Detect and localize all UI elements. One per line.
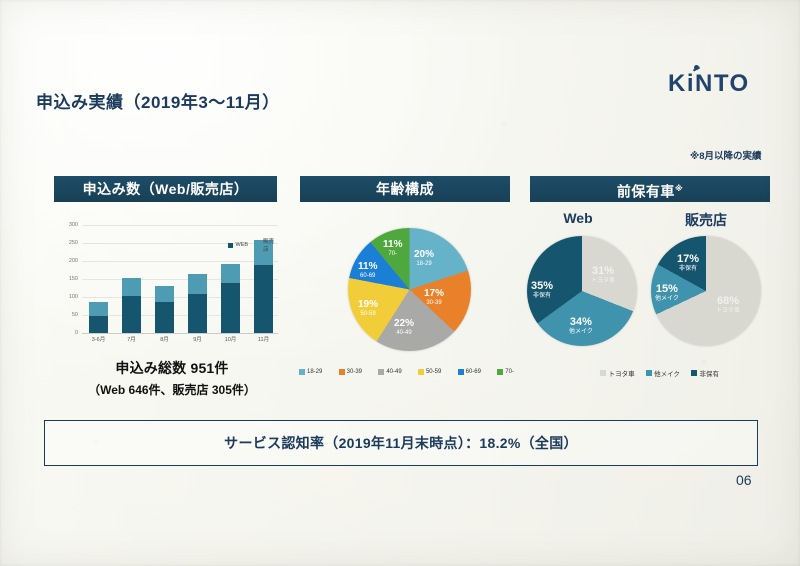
legend-item-30-39: 30-39 bbox=[339, 369, 362, 375]
bar-chart: 0 50 100 150 200 250 300 bbox=[52, 215, 284, 355]
legend-label: 30-39 bbox=[347, 369, 362, 375]
age-slice-pct: 17% bbox=[424, 288, 444, 299]
age-slice-pct: 19% bbox=[358, 299, 378, 310]
bar-column bbox=[155, 286, 174, 333]
legend-item-60-69: 60-69 bbox=[458, 369, 481, 375]
bar-segment-web bbox=[89, 316, 108, 333]
age-slice-range: 30-39 bbox=[424, 300, 444, 306]
age-slice-label-50-59: 19% 50-59 bbox=[358, 300, 378, 317]
age-pie-legend: 18-29 30-39 40-49 50-59 60-69 70- bbox=[299, 369, 514, 375]
legend-label: 他メイク bbox=[654, 368, 680, 378]
age-slice-pct: 22% bbox=[394, 318, 414, 329]
page-title: 申込み実績（2019年3〜11月） bbox=[36, 88, 280, 113]
age-slice-range: 50-59 bbox=[358, 311, 378, 317]
slide: KiNTO 申込み実績（2019年3〜11月） ※8月以降の実績 申込み数（We… bbox=[0, 0, 800, 566]
legend-item-70: 70- bbox=[497, 369, 514, 375]
legend-label: 販売店 bbox=[263, 237, 278, 253]
logo-dot-icon bbox=[694, 65, 699, 70]
web-slice-pct: 34% bbox=[570, 316, 592, 328]
legend-swatch-icon bbox=[646, 370, 652, 376]
age-slice-range: 70- bbox=[383, 251, 402, 257]
legend-label: 50-59 bbox=[426, 369, 441, 375]
age-slice-label-40-49: 22% 40-49 bbox=[394, 319, 414, 336]
legend-swatch-icon bbox=[299, 369, 305, 375]
awareness-banner-text: サービス認知率（2019年11月末時点）：18.2%（全国） bbox=[224, 433, 578, 453]
shop-slice-pct: 17% bbox=[677, 253, 699, 265]
panel-header-ownership-label: 前保有車 bbox=[617, 184, 675, 200]
subtitle-web: Web bbox=[528, 210, 628, 226]
legend-label: 60-69 bbox=[466, 369, 481, 375]
x-tick-label: 7月 bbox=[127, 335, 136, 343]
bar-column bbox=[221, 264, 240, 333]
legend-item-50-59: 50-59 bbox=[418, 369, 441, 375]
x-tick-label: 3-6月 bbox=[92, 335, 105, 343]
panel-header-ownership-sup: ※ bbox=[675, 184, 683, 193]
legend-item-shop: 販売店 bbox=[256, 237, 278, 253]
shop-slice-label-toyota: 68% トヨタ車 bbox=[716, 296, 740, 314]
legend-swatch-icon bbox=[418, 369, 424, 375]
web-slice-label-notowned: 35% 非保有 bbox=[531, 281, 553, 299]
gridline bbox=[82, 225, 278, 226]
x-tick-label: 8月 bbox=[160, 335, 169, 343]
bar-segment-web bbox=[254, 265, 273, 333]
y-tick-label: 100 bbox=[69, 294, 78, 300]
bar-segment-web bbox=[122, 296, 141, 333]
age-slice-pct: 20% bbox=[414, 249, 434, 260]
web-slice-label-other: 34% 他メイク bbox=[569, 317, 593, 335]
bar-column bbox=[89, 302, 108, 333]
web-slice-pct: 35% bbox=[531, 280, 553, 292]
legend-swatch-icon bbox=[228, 243, 233, 248]
legend-swatch-icon bbox=[497, 369, 503, 375]
gridline bbox=[82, 261, 278, 262]
web-slice-label: 非保有 bbox=[531, 293, 553, 299]
panel-header-ownership: 前保有車※ bbox=[530, 176, 770, 202]
legend-item-other-make: 他メイク bbox=[646, 368, 680, 378]
bar-chart-plot: 0 50 100 150 200 250 300 bbox=[82, 225, 278, 333]
panel-header-age: 年齢構成 bbox=[300, 176, 510, 202]
bar-segment-shop bbox=[122, 278, 141, 296]
legend-label: 70- bbox=[505, 369, 514, 375]
web-slice-pct: 31% bbox=[592, 265, 614, 277]
web-slice-label: 他メイク bbox=[569, 329, 593, 335]
kinto-logo-text: KiNTO bbox=[668, 70, 750, 97]
legend-swatch-icon bbox=[600, 370, 606, 376]
legend-swatch-icon bbox=[378, 369, 384, 375]
y-tick-label: 150 bbox=[69, 276, 78, 282]
legend-item-not-owned: 非保有 bbox=[691, 368, 719, 378]
gridline bbox=[82, 315, 278, 316]
y-tick-label: 250 bbox=[69, 240, 78, 246]
legend-label: 非保有 bbox=[699, 368, 719, 378]
kinto-logo: KiNTO bbox=[668, 70, 750, 98]
subtitle-shop: 販売店 bbox=[656, 210, 756, 230]
shop-slice-label: トヨタ車 bbox=[716, 308, 740, 314]
shop-slice-pct: 15% bbox=[656, 283, 678, 295]
web-slice-label-toyota: 31% トヨタ車 bbox=[591, 266, 615, 284]
x-tick-label: 10月 bbox=[225, 335, 237, 343]
legend-label: 18-29 bbox=[307, 369, 322, 375]
age-slice-range: 60-69 bbox=[358, 273, 377, 279]
legend-item-40-49: 40-49 bbox=[378, 369, 401, 375]
axis-baseline bbox=[82, 333, 278, 334]
bar-segment-shop bbox=[155, 286, 174, 302]
footnote-note: ※8月以降の実績 bbox=[690, 148, 762, 162]
bar-column bbox=[122, 278, 141, 333]
shop-slice-pct: 68% bbox=[717, 295, 739, 307]
shop-slice-label: 他メイク bbox=[655, 296, 679, 302]
legend-swatch-icon bbox=[458, 369, 464, 375]
gridline bbox=[82, 297, 278, 298]
total-applications: 申込み総数 951件 （Web 646件、販売店 305件） bbox=[52, 358, 292, 398]
bar-segment-web bbox=[221, 283, 240, 333]
legend-label: 40-49 bbox=[386, 369, 401, 375]
bar-column bbox=[254, 240, 273, 333]
gridline bbox=[82, 279, 278, 280]
y-tick-label: 200 bbox=[69, 258, 78, 264]
legend-item-toyota: トヨタ車 bbox=[600, 368, 635, 378]
age-slice-label-70: 11% 70- bbox=[383, 240, 402, 257]
age-slice-label-60-69: 11% 60-69 bbox=[358, 262, 377, 279]
bar-column bbox=[188, 274, 207, 333]
x-tick-label: 11月 bbox=[258, 335, 269, 343]
bar-chart-legend: WEB 販売店 bbox=[228, 237, 278, 253]
ownership-pie-legend: トヨタ車 他メイク 非保有 bbox=[572, 368, 747, 378]
legend-item-web: WEB bbox=[228, 242, 248, 248]
bar-segment-shop bbox=[221, 264, 240, 283]
legend-label: WEB bbox=[236, 242, 249, 248]
shop-slice-label-notowned: 17% 非保有 bbox=[677, 254, 699, 272]
age-slice-label-18-29: 20% 18-29 bbox=[414, 250, 434, 267]
y-tick-label: 50 bbox=[72, 312, 78, 318]
shop-slice-label-other: 15% 他メイク bbox=[655, 284, 679, 302]
legend-swatch-icon bbox=[691, 370, 697, 376]
age-slice-pct: 11% bbox=[358, 261, 377, 272]
bar-segment-web bbox=[155, 302, 174, 333]
legend-swatch-icon bbox=[339, 369, 345, 375]
age-slice-range: 18-29 bbox=[414, 261, 434, 267]
age-slice-range: 40-49 bbox=[394, 330, 414, 336]
y-tick-label: 300 bbox=[69, 222, 78, 228]
awareness-banner: サービス認知率（2019年11月末時点）：18.2%（全国） bbox=[44, 420, 758, 466]
y-tick-label: 0 bbox=[75, 330, 78, 336]
total-applications-line1: 申込み総数 951件 bbox=[52, 358, 292, 378]
legend-swatch-icon bbox=[256, 243, 261, 248]
age-slice-label-30-39: 17% 30-39 bbox=[424, 289, 444, 306]
page-number: 06 bbox=[736, 472, 752, 488]
total-applications-line2: （Web 646件、販売店 305件） bbox=[52, 381, 292, 398]
legend-label: トヨタ車 bbox=[609, 368, 635, 378]
bar-segment-shop bbox=[188, 274, 207, 295]
bar-segment-web bbox=[188, 294, 207, 333]
web-slice-label: トヨタ車 bbox=[591, 278, 615, 284]
age-slice-pct: 11% bbox=[383, 239, 402, 250]
legend-item-18-29: 18-29 bbox=[299, 369, 322, 375]
bar-segment-shop bbox=[89, 302, 108, 316]
shop-slice-label: 非保有 bbox=[677, 266, 699, 272]
x-tick-label: 9月 bbox=[193, 335, 202, 343]
panel-header-applications: 申込み数（Web/販売店） bbox=[54, 176, 277, 202]
